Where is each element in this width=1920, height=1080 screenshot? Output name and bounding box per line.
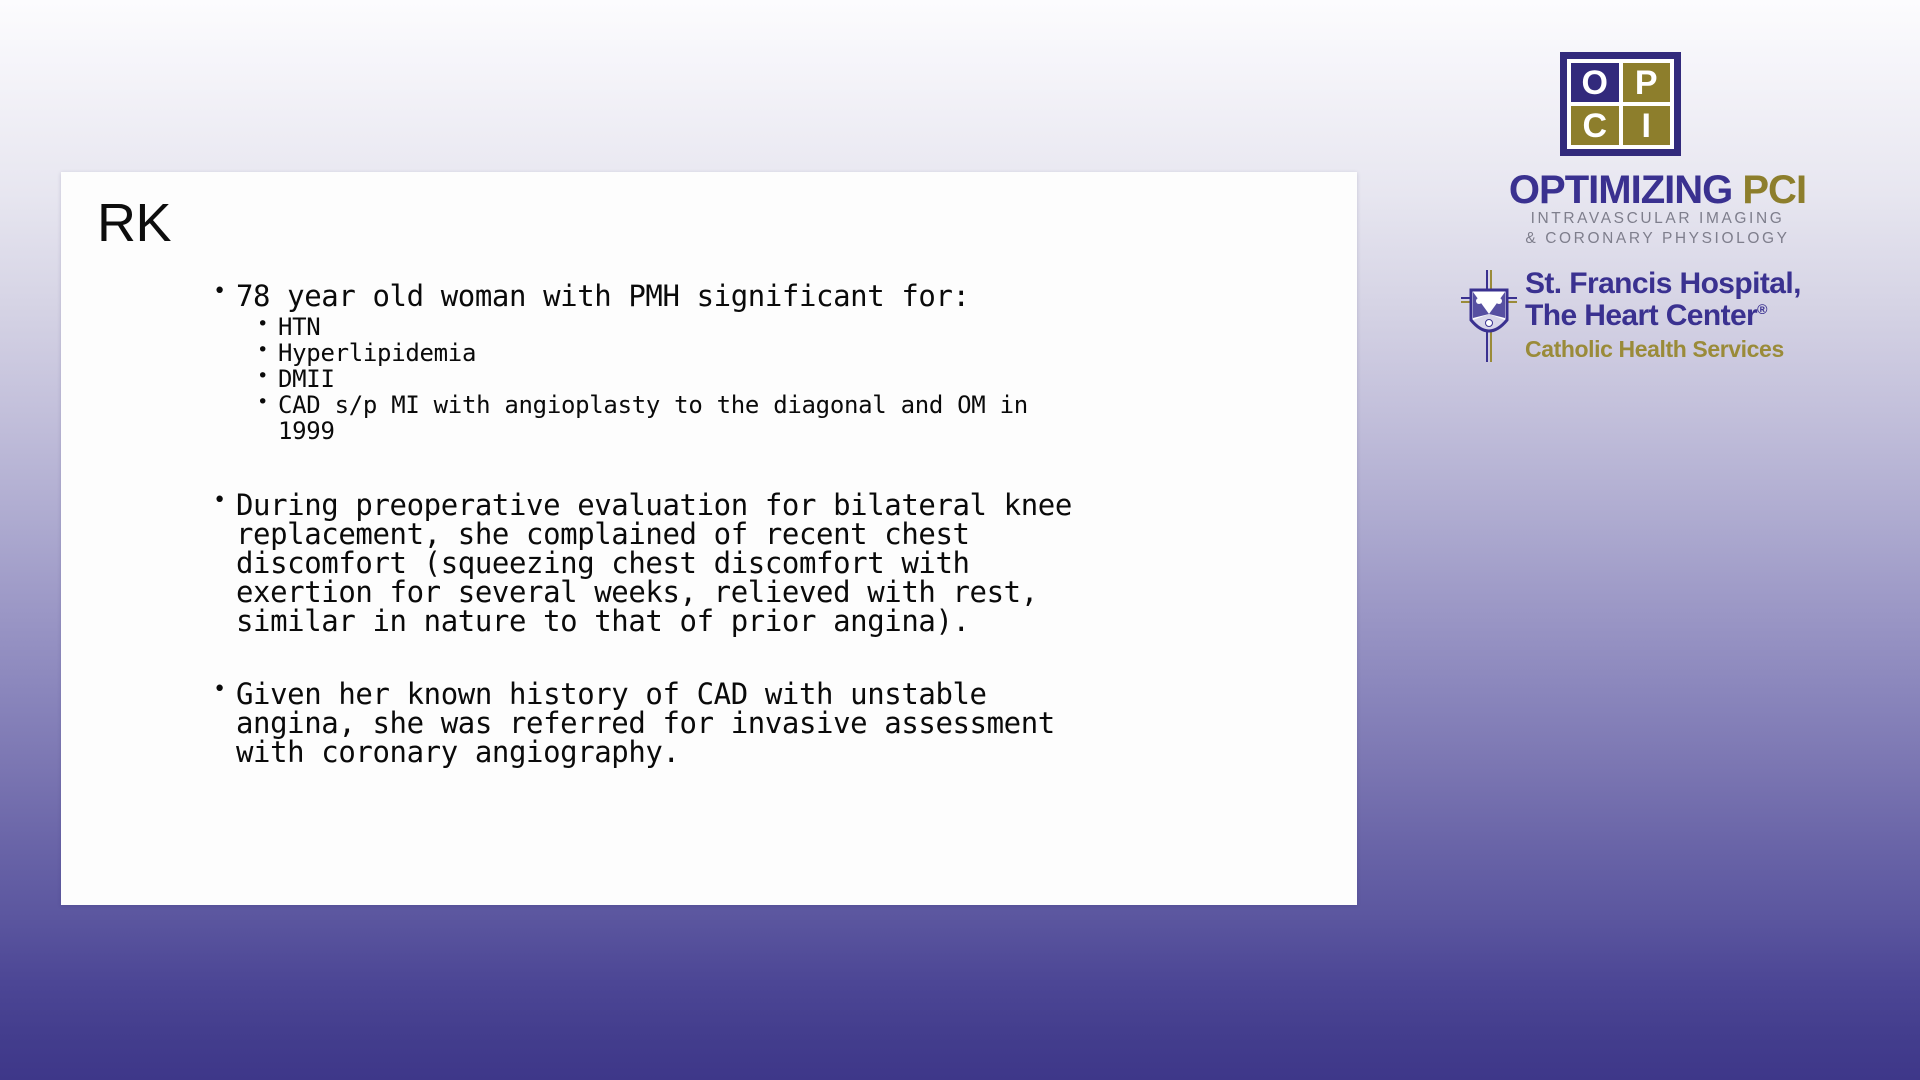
slide-title: RK — [97, 192, 171, 254]
sub-bullet-item: CAD s/p MI with angioplasty to the diago… — [254, 393, 1331, 445]
bullet-text: 78 year old woman with PMH significant f… — [236, 282, 1331, 311]
registered-trademark-icon: ® — [1757, 301, 1767, 317]
hospital-name-line1: St. Francis Hospital, — [1525, 268, 1920, 300]
sub-bullet-item: DMII — [254, 367, 1331, 393]
bullet-item: Given her known history of CAD with unst… — [211, 680, 1331, 767]
sub-bullet-text: Hyperlipidemia — [278, 341, 1331, 367]
slide-panel: RK 78 year old woman with PMH significan… — [61, 172, 1357, 905]
opci-logo: O P C I — [1560, 52, 1690, 157]
bullet-spacer — [211, 449, 1331, 491]
hospital-crest-icon — [1457, 268, 1521, 364]
opci-mark-letter-i: I — [1623, 106, 1671, 145]
slide-body: 78 year old woman with PMH significant f… — [211, 282, 1331, 771]
opci-subtitle-line1: INTRAVASCULAR IMAGING — [1395, 210, 1920, 228]
sub-bullet-item: Hyperlipidemia — [254, 341, 1331, 367]
sub-bullet-text: HTN — [278, 315, 1331, 341]
hospital-name-line2-text: The Heart Center — [1525, 299, 1757, 332]
sub-bullet-item: HTN — [254, 315, 1331, 341]
sub-bullet-text: CAD s/p MI with angioplasty to the diago… — [278, 393, 1331, 445]
bullet-item: 78 year old woman with PMH significant f… — [211, 282, 1331, 445]
hospital-tagline: Catholic Health Services — [1525, 336, 1920, 363]
hospital-name-block: St. Francis Hospital, The Heart Center® … — [1525, 268, 1920, 363]
bullet-list-level2: HTN Hyperlipidemia DMII CAD s/p MI with … — [254, 315, 1331, 445]
opci-wordmark-accent: PCI — [1742, 168, 1806, 212]
opci-mark-letter-o: O — [1571, 63, 1619, 102]
opci-mark-letter-c: C — [1571, 106, 1619, 145]
hospital-logo: St. Francis Hospital, The Heart Center® … — [1457, 268, 1907, 368]
bullet-item: During preoperative evaluation for bilat… — [211, 491, 1331, 636]
bullet-text: During preoperative evaluation for bilat… — [236, 491, 1331, 636]
opci-wordmark: OPTIMIZING PCI — [1395, 168, 1920, 213]
opci-mark-letter-p: P — [1623, 63, 1671, 102]
opci-subtitle-line2: & CORONARY PHYSIOLOGY — [1395, 230, 1920, 248]
bullet-list-level1: 78 year old woman with PMH significant f… — [211, 282, 1331, 767]
branding-column: O P C I OPTIMIZING PCI INTRAVASCULAR IMA… — [1395, 0, 1920, 1080]
sub-bullet-text: DMII — [278, 367, 1331, 393]
bullet-spacer — [211, 640, 1331, 680]
opci-logo-mark-icon: O P C I — [1560, 52, 1681, 156]
opci-wordmark-primary: OPTIMIZING — [1509, 168, 1732, 212]
bullet-text: Given her known history of CAD with unst… — [236, 680, 1331, 767]
presentation-stage: RK 78 year old woman with PMH significan… — [0, 0, 1920, 1080]
hospital-name-line2: The Heart Center® — [1525, 300, 1920, 332]
